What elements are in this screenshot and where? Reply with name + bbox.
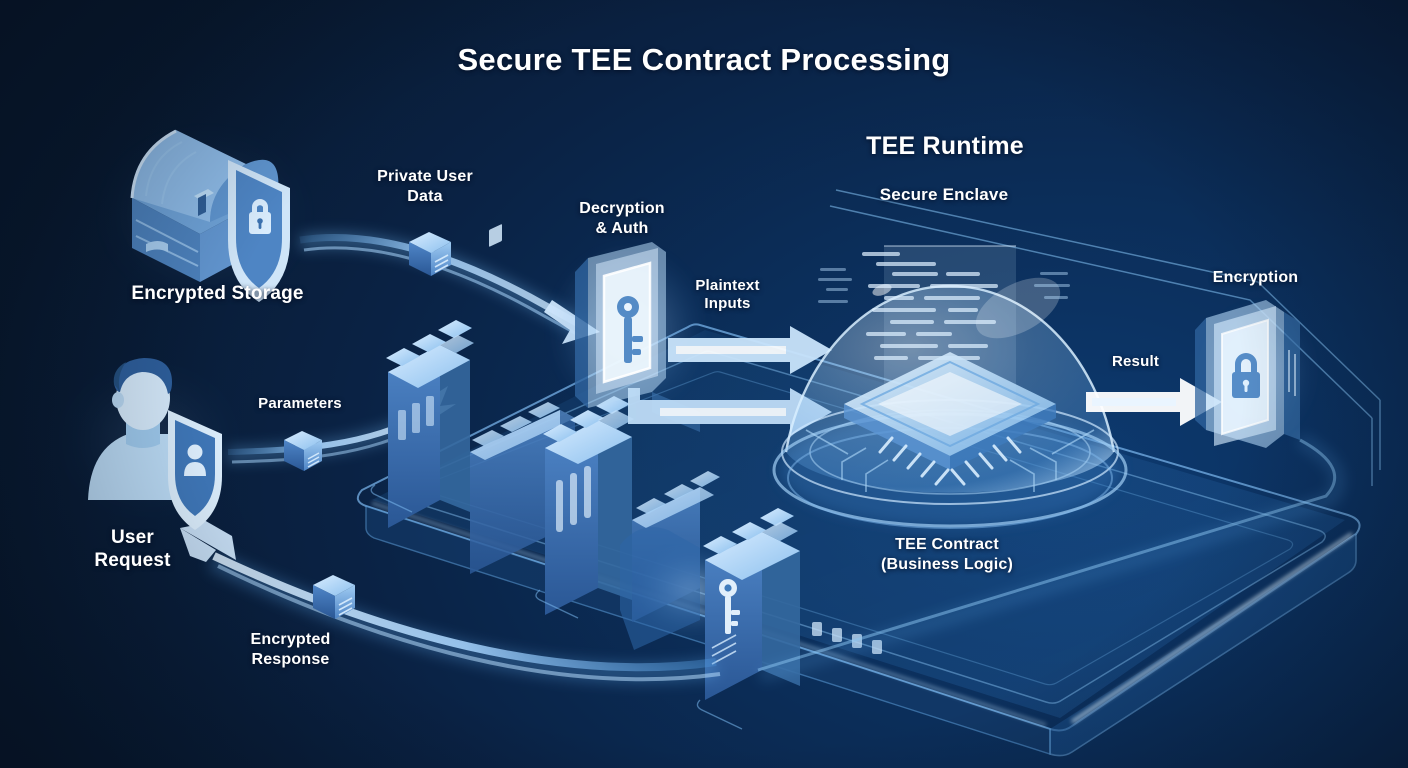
padlock-panel-icon (1195, 300, 1316, 448)
data-packet-icon (284, 431, 322, 471)
flow-label-plaintext-inputs: Plaintext Inputs (640, 277, 815, 314)
node-label-user-request: User Request (35, 526, 230, 572)
flow-label-encrypted-response: Encrypted Response (178, 630, 403, 669)
node-label-decryption: Decryption & Auth (512, 199, 732, 238)
glass-dome-icon (774, 246, 1126, 528)
treasure-chest-shield-lock-icon (113, 130, 297, 302)
node-label-encryption: Encryption (1158, 268, 1353, 288)
node-label-encrypted-storage: Encrypted Storage (30, 282, 405, 305)
node-label-tee-contract: TEE Contract (Business Logic) (812, 535, 1082, 574)
user-shield-icon (70, 358, 230, 530)
diagram-canvas: Secure TEE Contract Processing Encrypted… (0, 0, 1408, 768)
flow-label-private-user-data: Private User Data (310, 167, 540, 206)
group-label-tee-runtime: TEE Runtime (790, 131, 1100, 162)
page-title: Secure TEE Contract Processing (0, 41, 1408, 79)
group-label-secure-enclave: Secure Enclave (800, 185, 1088, 206)
flow-label-parameters: Parameters (195, 395, 405, 413)
flow-label-result: Result (1058, 353, 1213, 371)
